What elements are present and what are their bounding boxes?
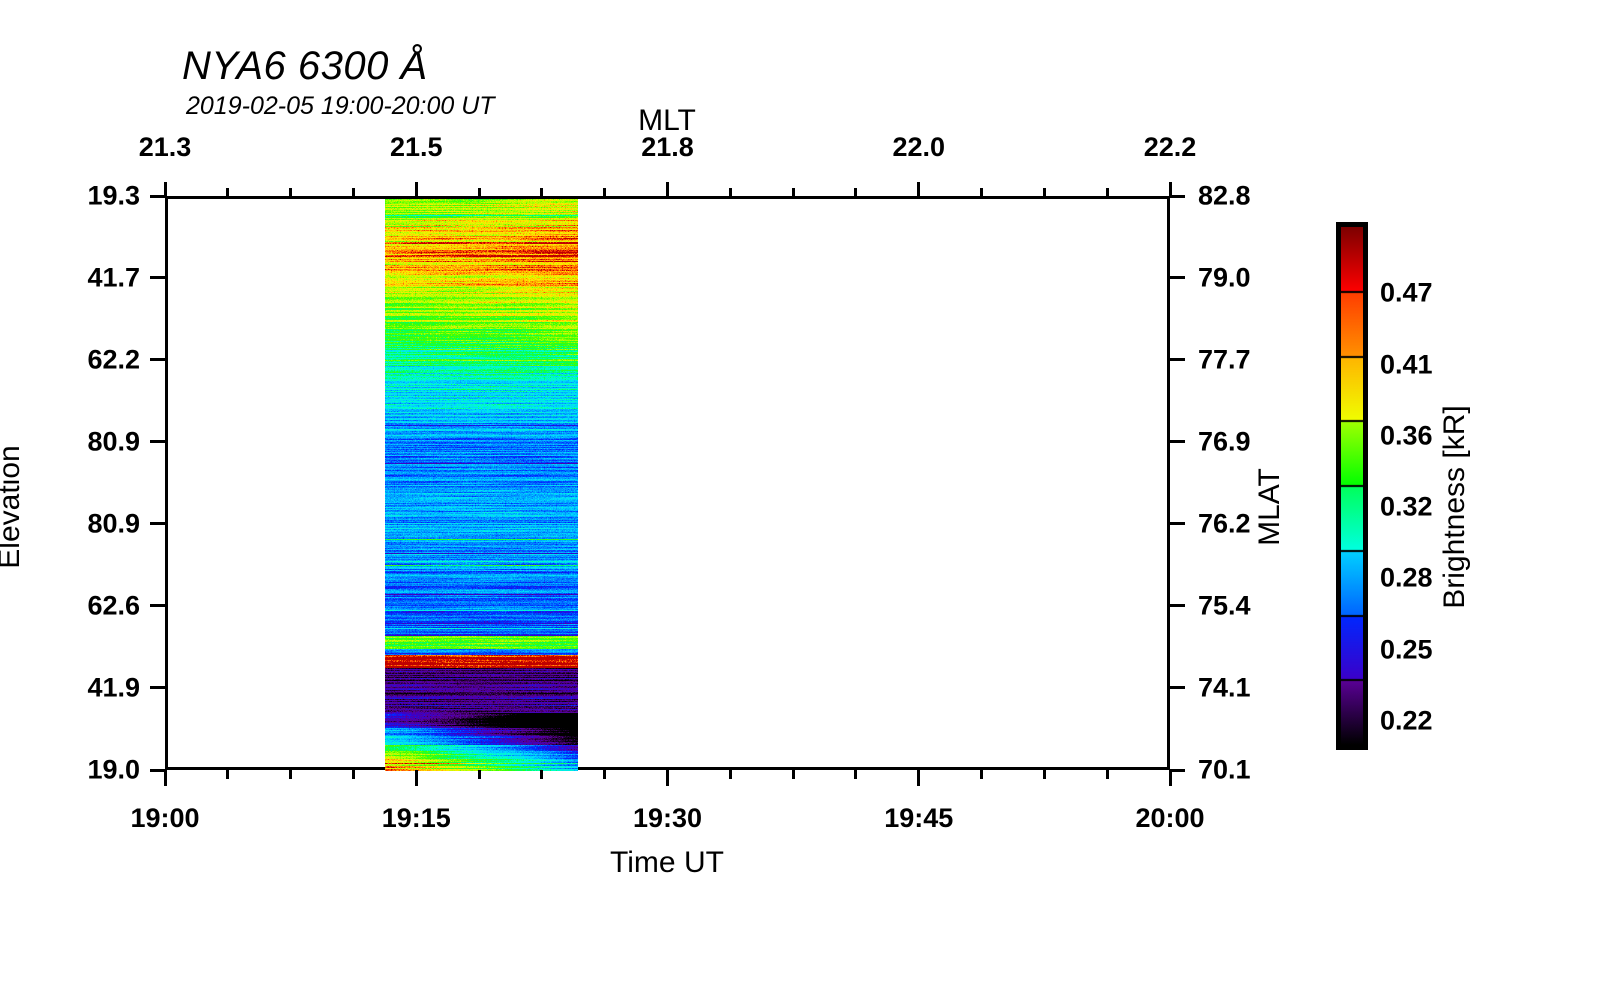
tick-mlat-major <box>1170 769 1185 772</box>
tick-mlat-major <box>1170 358 1185 361</box>
colorbar-tick-label: 0.22 <box>1380 705 1433 736</box>
tick-label-mlt: 21.3 <box>139 132 192 163</box>
tick-label-time: 19:45 <box>884 803 953 834</box>
tick-label-elevation: 62.2 <box>20 344 140 375</box>
tick-mlt-minor <box>1043 188 1046 196</box>
tick-label-elevation: 62.6 <box>20 590 140 621</box>
tick-mlat-major <box>1170 686 1185 689</box>
tick-mlat-major <box>1170 195 1185 198</box>
tick-label-elevation: 19.3 <box>20 181 140 212</box>
tick-label-mlt: 22.0 <box>892 132 945 163</box>
tick-label-time: 19:30 <box>633 803 702 834</box>
tick-time-minor <box>478 770 481 779</box>
tick-mlt-minor <box>352 188 355 196</box>
colorbar-tick-label: 0.36 <box>1380 420 1433 451</box>
tick-mlt-minor <box>854 188 857 196</box>
tick-label-mlat: 76.9 <box>1198 426 1251 457</box>
colorbar-tick-label: 0.28 <box>1380 563 1433 594</box>
tick-mlat-major <box>1170 276 1185 279</box>
tick-label-elevation: 80.9 <box>20 508 140 539</box>
tick-time-major <box>415 770 418 786</box>
tick-time-minor <box>226 770 229 779</box>
right-axis-title: MLAT <box>1253 468 1287 546</box>
tick-time-minor <box>603 770 606 779</box>
tick-label-elevation: 19.0 <box>20 755 140 786</box>
page-title: NYA6 6300 Å <box>182 44 428 89</box>
tick-elev-major <box>150 686 165 689</box>
tick-label-elevation: 80.9 <box>20 426 140 457</box>
tick-mlt-minor <box>1106 188 1109 196</box>
tick-elev-major <box>150 440 165 443</box>
colorbar-tick-label: 0.47 <box>1380 278 1433 309</box>
tick-label-mlat: 79.0 <box>1198 262 1251 293</box>
tick-mlt-major <box>666 182 669 196</box>
tick-label-elevation: 41.9 <box>20 672 140 703</box>
tick-elev-major <box>150 358 165 361</box>
tick-time-minor <box>792 770 795 779</box>
tick-mlt-minor <box>478 188 481 196</box>
bottom-axis-title: Time UT <box>610 846 724 880</box>
tick-elev-major <box>150 276 165 279</box>
colorbar-tick-label: 0.32 <box>1380 492 1433 523</box>
tick-label-time: 19:00 <box>130 803 199 834</box>
tick-mlt-minor <box>540 188 543 196</box>
tick-mlt-major <box>917 182 920 196</box>
tick-label-mlat: 70.1 <box>1198 755 1251 786</box>
tick-label-elevation: 41.7 <box>20 262 140 293</box>
tick-elev-major <box>150 522 165 525</box>
colorbar <box>1336 222 1368 750</box>
tick-time-minor <box>352 770 355 779</box>
tick-mlt-major <box>415 182 418 196</box>
tick-time-minor <box>980 770 983 779</box>
tick-time-major <box>1169 770 1172 786</box>
tick-label-mlt: 21.5 <box>390 132 443 163</box>
tick-label-mlat: 74.1 <box>1198 672 1251 703</box>
colorbar-tick-label: 0.25 <box>1380 634 1433 665</box>
tick-label-mlat: 82.8 <box>1198 181 1251 212</box>
tick-mlat-major <box>1170 604 1185 607</box>
tick-label-mlat: 75.4 <box>1198 590 1251 621</box>
tick-mlt-minor <box>289 188 292 196</box>
tick-mlt-minor <box>792 188 795 196</box>
tick-time-minor <box>1106 770 1109 779</box>
tick-mlat-major <box>1170 440 1185 443</box>
tick-time-minor <box>289 770 292 779</box>
tick-label-mlat: 77.7 <box>1198 344 1251 375</box>
tick-label-time: 20:00 <box>1135 803 1204 834</box>
tick-time-minor <box>1043 770 1046 779</box>
colorbar-title: Brightness [kR] <box>1438 405 1472 608</box>
tick-mlt-minor <box>226 188 229 196</box>
tick-time-major <box>917 770 920 786</box>
tick-time-major <box>666 770 669 786</box>
tick-mlt-minor <box>980 188 983 196</box>
tick-elev-major <box>150 604 165 607</box>
left-axis-title: Elevation <box>0 445 27 568</box>
tick-elev-major <box>150 195 165 198</box>
plot-frame <box>165 196 1170 770</box>
tick-mlt-minor <box>729 188 732 196</box>
tick-mlat-major <box>1170 522 1185 525</box>
tick-label-mlt: 22.2 <box>1144 132 1197 163</box>
tick-elev-major <box>150 769 165 772</box>
tick-time-minor <box>729 770 732 779</box>
tick-label-mlt: 21.8 <box>641 132 694 163</box>
tick-time-major <box>164 770 167 786</box>
tick-time-minor <box>540 770 543 779</box>
keogram-image <box>385 199 578 771</box>
colorbar-tick-label: 0.41 <box>1380 349 1433 380</box>
tick-label-time: 19:15 <box>382 803 451 834</box>
tick-label-mlat: 76.2 <box>1198 508 1251 539</box>
tick-mlt-minor <box>603 188 606 196</box>
tick-time-minor <box>854 770 857 779</box>
page-subtitle: 2019-02-05 19:00-20:00 UT <box>186 92 495 121</box>
